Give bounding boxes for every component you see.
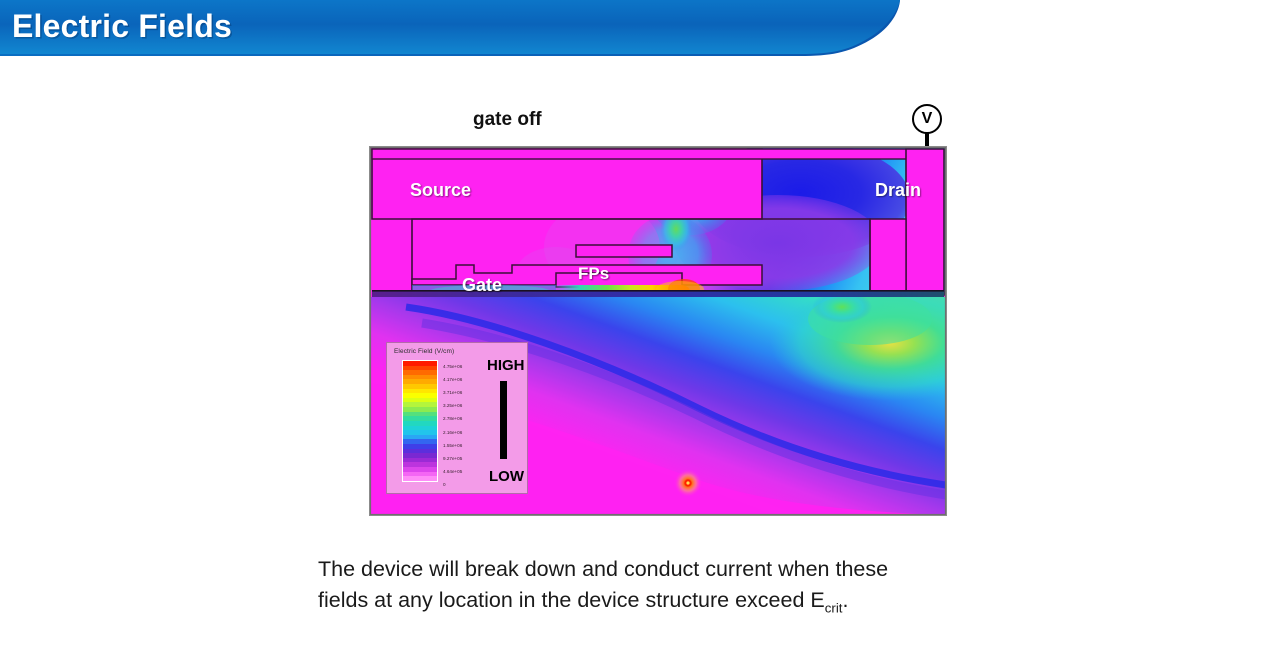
legend-low-label: LOW <box>489 468 524 485</box>
legend-colorbar <box>402 360 438 482</box>
legend-tick: 0 <box>443 483 446 488</box>
legend-tick-labels: 4.75e+064.17e+063.71e+063.25e+062.78e+06… <box>443 359 487 483</box>
caption-text: The device will break down and conduct c… <box>318 554 1048 623</box>
legend-tick: 2.78e+06 <box>443 417 462 422</box>
legend-title: Electric Field (V/cm) <box>394 348 454 355</box>
legend-high-label: HIGH <box>487 357 525 374</box>
label-gate: Gate <box>462 275 502 296</box>
caption-line-1: The device will break down and conduct c… <box>318 557 888 581</box>
slide-title-banner: Electric Fields <box>0 0 960 62</box>
caption-line-2-pre: fields at any location in the device str… <box>318 588 825 612</box>
gate-state-label: gate off <box>473 109 542 131</box>
legend-tick: 9.27e+05 <box>443 457 462 462</box>
voltmeter-icon: V <box>912 104 942 134</box>
colorbar-legend: Electric Field (V/cm) 4.75e+064.17e+063.… <box>386 342 528 494</box>
legend-tick: 4.64e+05 <box>443 470 462 475</box>
legend-tick: 1.55e+06 <box>443 444 462 449</box>
legend-scale-indicator: HIGH LOW <box>487 357 527 485</box>
legend-tick: 4.75e+06 <box>443 365 462 370</box>
device-figure: gate off V <box>369 104 947 516</box>
legend-swatch <box>403 476 437 481</box>
caption-subscript: crit <box>825 600 843 615</box>
electric-field-heatmap: Source Drain Gate FPs Electric Field (V/… <box>369 146 947 516</box>
voltmeter: V <box>908 104 946 152</box>
label-source: Source <box>410 180 471 201</box>
page-title: Electric Fields <box>12 8 232 45</box>
legend-tick: 3.71e+06 <box>443 391 462 396</box>
legend-tick: 2.16e+06 <box>443 431 462 436</box>
legend-scale-bar <box>500 381 507 459</box>
legend-tick: 4.17e+06 <box>443 378 462 383</box>
legend-tick: 3.25e+06 <box>443 404 462 409</box>
label-field-plates: FPs <box>578 264 609 284</box>
label-drain: Drain <box>875 180 921 201</box>
caption-line-2-post: . <box>843 588 849 612</box>
